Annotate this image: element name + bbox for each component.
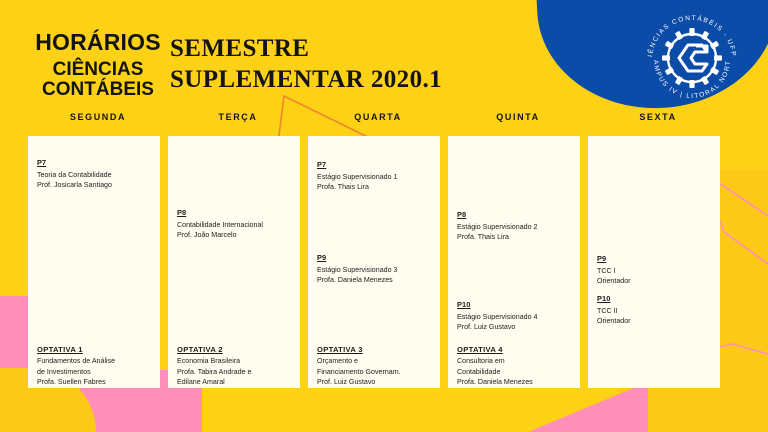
slot-course-2: Financiamento Governam.: [317, 367, 433, 377]
class-slot-optativa[interactable]: OPTATIVA 4 Consultoria em Contabilidade …: [457, 344, 573, 388]
slot-code: OPTATIVA 2: [177, 344, 293, 355]
schedule-grid: SEGUNDA TERÇA QUARTA QUINTA SEXTA P7 Teo…: [28, 112, 740, 388]
slot-teacher: Prof. Josicarla Santiago: [37, 180, 153, 190]
slot-code: P9: [597, 254, 713, 265]
day-header-row: SEGUNDA TERÇA QUARTA QUINTA SEXTA: [28, 112, 740, 136]
day-header-quinta: QUINTA: [448, 112, 588, 136]
page-title: HORÁRIOS CIÊNCIAS CONTÁBEIS: [32, 30, 164, 100]
day-column-quarta: P7 Estágio Supervisionado 1 Profa. Thais…: [308, 136, 440, 388]
slot-code: P7: [37, 158, 153, 169]
day-columns: P7 Teoria da Contabilidade Prof. Josicar…: [28, 136, 740, 388]
slot-teacher: Profa. Thais Lira: [317, 182, 433, 192]
gear-icon: CIÊNCIAS CONTÁBEIS - UFPB CAMPUS IV | LI…: [638, 6, 737, 100]
slot-course: Teoria da Contabilidade: [37, 170, 153, 180]
class-slot[interactable]: P9 TCC I Orientador: [597, 254, 713, 287]
slot-code: P10: [457, 300, 573, 311]
slot-teacher: Profa. Tabira Andrade e: [177, 367, 293, 377]
class-slot[interactable]: P8 Contabilidade Internacional Prof. Joã…: [177, 208, 293, 241]
day-column-quinta: P8 Estágio Supervisionado 2 Profa. Thais…: [448, 136, 580, 388]
class-slot-optativa[interactable]: OPTATIVA 2 Economia Brasileira Profa. Ta…: [177, 344, 293, 388]
slot-code: P8: [177, 208, 293, 219]
slot-teacher: Profa. Daniela Menezes: [317, 275, 433, 285]
day-column-terca: P8 Contabilidade Internacional Prof. Joã…: [168, 136, 300, 388]
logo-top-text: CIÊNCIAS CONTÁBEIS - UFPB: [638, 6, 737, 58]
slot-teacher: Profa. Daniela Menezes: [457, 377, 573, 387]
slot-code: OPTATIVA 4: [457, 344, 573, 355]
slot-teacher: Prof. Luiz Gustavo: [317, 377, 433, 387]
slot-course: Contabilidade Internacional: [177, 220, 293, 230]
day-header-segunda: SEGUNDA: [28, 112, 168, 136]
class-slot[interactable]: P7 Estágio Supervisionado 1 Profa. Thais…: [317, 160, 433, 193]
logo-svg: CIÊNCIAS CONTÁBEIS - UFPB CAMPUS IV | LI…: [638, 6, 746, 104]
subtitle-line-1: SEMESTRE: [170, 34, 442, 65]
slot-code: P8: [457, 210, 573, 221]
slot-course: Economia Brasileira: [177, 356, 293, 366]
slot-course: Orçamento e: [317, 356, 433, 366]
subtitle-line-2: SUPLEMENTAR 2020.1: [170, 65, 442, 96]
day-column-segunda: P7 Teoria da Contabilidade Prof. Josicar…: [28, 136, 160, 388]
page-subtitle: SEMESTRE SUPLEMENTAR 2020.1: [170, 34, 442, 95]
slot-code: P10: [597, 294, 713, 305]
slot-code: P7: [317, 160, 433, 171]
slot-course: Consultoria em: [457, 356, 573, 366]
class-slot[interactable]: P10 TCC II Orientador: [597, 294, 713, 327]
slot-teacher: Orientador: [597, 316, 713, 326]
slot-teacher: Profa. Suellen Fabres: [37, 377, 153, 387]
title-horarios: HORÁRIOS: [32, 30, 164, 54]
slot-course-2: Contabilidade: [457, 367, 573, 377]
class-slot[interactable]: P7 Teoria da Contabilidade Prof. Josicar…: [37, 158, 153, 191]
title-ciencias: CIÊNCIAS: [32, 60, 164, 80]
pink-triangle-decoration: [528, 382, 648, 432]
slot-code: OPTATIVA 3: [317, 344, 433, 355]
class-slot-optativa[interactable]: OPTATIVA 1 Fundamentos de Análise de Inv…: [37, 344, 153, 388]
class-slot[interactable]: P10 Estágio Supervisionado 4 Prof. Luiz …: [457, 300, 573, 333]
poster-canvas: CIÊNCIAS CONTÁBEIS - UFPB CAMPUS IV | LI…: [0, 0, 768, 432]
class-slot[interactable]: P8 Estágio Supervisionado 2 Profa. Thais…: [457, 210, 573, 243]
day-header-terca: TERÇA: [168, 112, 308, 136]
slot-course: Estágio Supervisionado 2: [457, 222, 573, 232]
university-logo: CIÊNCIAS CONTÁBEIS - UFPB CAMPUS IV | LI…: [638, 6, 746, 104]
slot-code: P9: [317, 253, 433, 264]
slot-course: Estágio Supervisionado 4: [457, 312, 573, 322]
slot-course-2: de Investimentos: [37, 367, 153, 377]
slot-teacher: Profa. Thais Lira: [457, 232, 573, 242]
slot-course: TCC I: [597, 266, 713, 276]
slot-course: TCC II: [597, 306, 713, 316]
class-slot-optativa[interactable]: OPTATIVA 3 Orçamento e Financiamento Gov…: [317, 344, 433, 388]
slot-course: Estágio Supervisionado 3: [317, 265, 433, 275]
slot-code: OPTATIVA 1: [37, 344, 153, 355]
day-header-quarta: QUARTA: [308, 112, 448, 136]
slot-course: Estágio Supervisionado 1: [317, 172, 433, 182]
title-contabeis: CONTÁBEIS: [32, 80, 164, 100]
slot-teacher: Prof. Luiz Gustavo: [457, 322, 573, 332]
slot-course: Fundamentos de Análise: [37, 356, 153, 366]
slot-teacher: Prof. João Marcelo: [177, 230, 293, 240]
day-header-sexta: SEXTA: [588, 112, 728, 136]
slot-teacher: Orientador: [597, 276, 713, 286]
day-column-sexta: P9 TCC I Orientador P10 TCC II Orientado…: [588, 136, 720, 388]
class-slot[interactable]: P9 Estágio Supervisionado 3 Profa. Danie…: [317, 253, 433, 286]
slot-course-2: Edilane Amaral: [177, 377, 293, 387]
